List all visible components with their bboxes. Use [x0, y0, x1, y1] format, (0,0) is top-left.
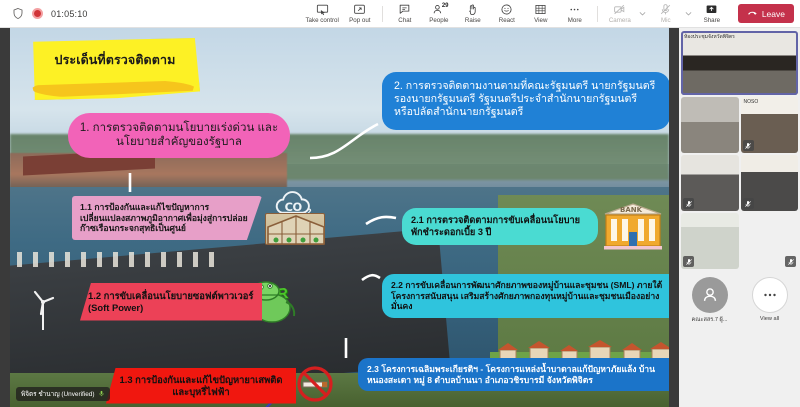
- people-button[interactable]: 29 People: [422, 0, 456, 28]
- camera-off-icon: [613, 3, 626, 16]
- toolbar-divider: [382, 6, 383, 22]
- recording-timer: 01:05:10: [51, 9, 88, 19]
- leave-button[interactable]: Leave: [738, 4, 794, 23]
- react-button[interactable]: React: [490, 0, 524, 28]
- share-label: Share: [704, 17, 721, 24]
- recording-indicator-icon: [32, 8, 43, 19]
- svg-text:CO: CO: [285, 200, 303, 214]
- smiley-icon: [500, 3, 513, 16]
- tile-participant-3[interactable]: NOSO: [741, 97, 799, 153]
- node-main-1[interactable]: 1. การตรวจติดตามนโยบายเร่งด่วน และนโยบาย…: [68, 113, 290, 158]
- tile-participant-2[interactable]: [681, 97, 739, 153]
- view-button[interactable]: View: [524, 0, 558, 28]
- filmstrip-row-3: [681, 213, 798, 269]
- tile-participant-3-label: NOSO: [744, 99, 759, 105]
- bank-building-icon: BANK: [602, 202, 664, 250]
- leave-label: Leave: [762, 9, 785, 19]
- tile-participant-4[interactable]: [681, 155, 739, 211]
- mic-button[interactable]: Mic: [649, 0, 683, 28]
- filmstrip-overflow-row: คณะสสร.7 ผู้... View all: [681, 277, 798, 324]
- person-avatar-icon: [692, 277, 728, 313]
- presenter-name-label: พิจิตร ชำนาญ (Unverified): [21, 389, 94, 399]
- tile-participant-6[interactable]: [681, 213, 739, 269]
- grid-view-icon: [534, 3, 547, 16]
- background-traffic-cones: [17, 252, 215, 267]
- raise-hand-label: Raise: [465, 17, 481, 24]
- mic-off-icon: [98, 390, 105, 399]
- raise-hand-button[interactable]: Raise: [456, 0, 490, 28]
- camera-options-chevron-down-icon[interactable]: [637, 0, 649, 28]
- react-label: React: [499, 17, 515, 24]
- node-2-2[interactable]: 2.2 การขับเคลื่อนการพัฒนาศักยภาพของหมู่บ…: [382, 274, 669, 318]
- windmill-icon: [30, 286, 56, 332]
- chat-button[interactable]: Chat: [388, 0, 422, 28]
- view-label: View: [534, 17, 547, 24]
- filmstrip-row-2: [681, 155, 798, 211]
- people-count-badge: 29: [442, 3, 449, 9]
- pop-out-label: Pop out: [349, 17, 370, 24]
- ellipsis-icon: [568, 3, 581, 16]
- tile-participant-5[interactable]: [741, 155, 799, 211]
- mic-off-icon: [785, 256, 796, 267]
- node-1-1[interactable]: 1.1 การป้องกันและแก้ไขปัญหาการเปลี่ยนแปล…: [72, 196, 262, 240]
- more-button[interactable]: More: [558, 0, 592, 28]
- node-2-1[interactable]: 2.1 การตรวจติดตามการขับเคลื่อนนโยบายพักช…: [402, 208, 598, 245]
- shield-icon: [12, 7, 24, 20]
- shared-content-stage[interactable]: ประเด็นที่ตรวจติดตาม CO 2: [0, 28, 679, 407]
- pop-out-icon: [353, 3, 366, 16]
- camera-label: Camera: [609, 17, 631, 24]
- camera-button[interactable]: Camera: [603, 0, 637, 28]
- overflow-participant-label: คณะสสร.7 ผู้...: [692, 316, 728, 324]
- node-1-3[interactable]: 1.3 การป้องกันและแก้ไขปัญหายาเสพติดและบุ…: [106, 368, 296, 404]
- share-screen-icon: [705, 3, 718, 16]
- no-smoking-icon: [295, 364, 335, 404]
- view-all-label: View all: [760, 316, 779, 322]
- chat-icon: [398, 3, 411, 16]
- mic-off-icon: [683, 198, 694, 209]
- participant-filmstrip[interactable]: ห้องประชุมจังหวัดพิจิตร NOSO: [679, 28, 800, 407]
- mic-label: Mic: [661, 17, 671, 24]
- teams-meeting-window: 01:05:10 Take control Pop out Ch: [0, 0, 800, 407]
- tile-main-room-label: ห้องประชุมจังหวัดพิจิตร: [684, 33, 735, 41]
- pop-out-button[interactable]: Pop out: [343, 0, 377, 28]
- tile-main-room[interactable]: ห้องประชุมจังหวัดพิจิตร: [681, 31, 798, 95]
- screen-control-icon: [316, 3, 329, 16]
- ellipsis-icon: [752, 277, 788, 313]
- raise-hand-icon: [466, 3, 479, 16]
- presenter-name-chip: พิจิตร ชำนาญ (Unverified): [16, 387, 110, 401]
- node-main-2[interactable]: 2. การตรวจติดตามงานตามที่คณะรัฐมนตรี นาย…: [382, 72, 669, 130]
- node-2-3[interactable]: 2.3 โครงการเฉลิมพระเกียรติฯ - โครงการแหล…: [358, 358, 669, 391]
- mic-options-chevron-down-icon[interactable]: [683, 0, 695, 28]
- mic-off-icon: [743, 198, 754, 209]
- view-all-button[interactable]: View all: [743, 277, 797, 322]
- mic-off-icon: [683, 256, 694, 267]
- mic-off-icon: [659, 3, 672, 16]
- slide-banner-title: ประเด็นที่ตรวจติดตาม: [32, 50, 198, 70]
- take-control-label: Take control: [305, 17, 338, 24]
- meeting-toolbar: 01:05:10 Take control Pop out Ch: [0, 0, 800, 28]
- mic-off-icon: [743, 140, 754, 151]
- greenhouse-icon: [265, 213, 325, 245]
- toolbar-divider-2: [597, 6, 598, 22]
- people-label: People: [429, 17, 448, 24]
- svg-text:BANK: BANK: [620, 206, 643, 214]
- toolbar-left-group: 01:05:10: [0, 7, 300, 20]
- share-button[interactable]: Share: [695, 0, 729, 28]
- filmstrip-row-1: NOSO: [681, 97, 798, 153]
- phone-hangup-icon: [747, 7, 758, 20]
- node-1-2[interactable]: 1.2 การขับเคลื่อนนโยบายซอฟต์พาวเวอร์ (So…: [80, 283, 262, 321]
- presentation-slide: ประเด็นที่ตรวจติดตาม CO 2: [10, 28, 669, 407]
- chat-label: Chat: [398, 17, 411, 24]
- more-label: More: [568, 17, 582, 24]
- overflow-participant[interactable]: คณะสสร.7 ผู้...: [683, 277, 737, 324]
- tile-participant-7[interactable]: [741, 213, 799, 269]
- toolbar-right-group: Take control Pop out Chat 29: [301, 0, 800, 28]
- take-control-button[interactable]: Take control: [301, 0, 342, 28]
